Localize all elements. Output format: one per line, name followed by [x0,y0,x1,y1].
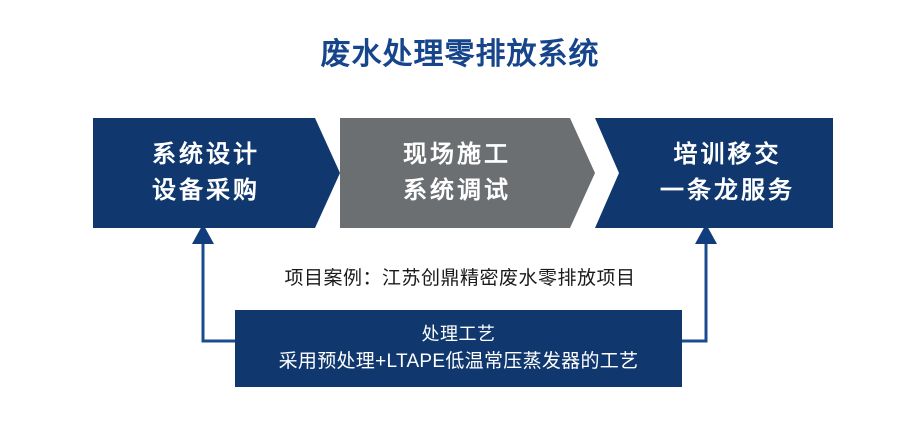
case-example-caption: 项目案例：江苏创鼎精密废水零排放项目 [0,265,920,293]
process-step-training-handover[interactable]: 培训移交 一条龙服务 [595,118,833,228]
treatment-process-title: 处理工艺 [422,321,496,347]
process-step-line-1: 现场施工 [400,137,511,173]
process-step-system-design[interactable]: 系统设计 设备采购 [93,118,340,228]
process-step-line-2: 一条龙服务 [657,173,795,209]
treatment-process-box[interactable]: 处理工艺 采用预处理+LTAPE低温常压蒸发器的工艺 [235,310,682,387]
process-step-line-1: 培训移交 [671,137,782,173]
process-step-site-construction[interactable]: 现场施工 系统调试 [340,118,595,228]
process-flow: 系统设计 设备采购 现场施工 系统调试 培训移交 一条龙服务 [0,118,920,228]
slide-canvas: 废水处理零排放系统 系统设计 设备采购 现场施工 系统调试 [0,0,920,427]
process-step-line-2: 设备采购 [149,173,260,209]
process-step-text: 现场施工 系统调试 [400,137,511,209]
process-step-text: 培训移交 一条龙服务 [657,137,795,209]
process-step-line-2: 系统调试 [400,173,511,209]
treatment-process-description: 采用预处理+LTAPE低温常压蒸发器的工艺 [279,347,639,377]
page-title: 废水处理零排放系统 [0,34,920,76]
process-step-line-1: 系统设计 [149,137,260,173]
process-step-text: 系统设计 设备采购 [149,137,260,209]
